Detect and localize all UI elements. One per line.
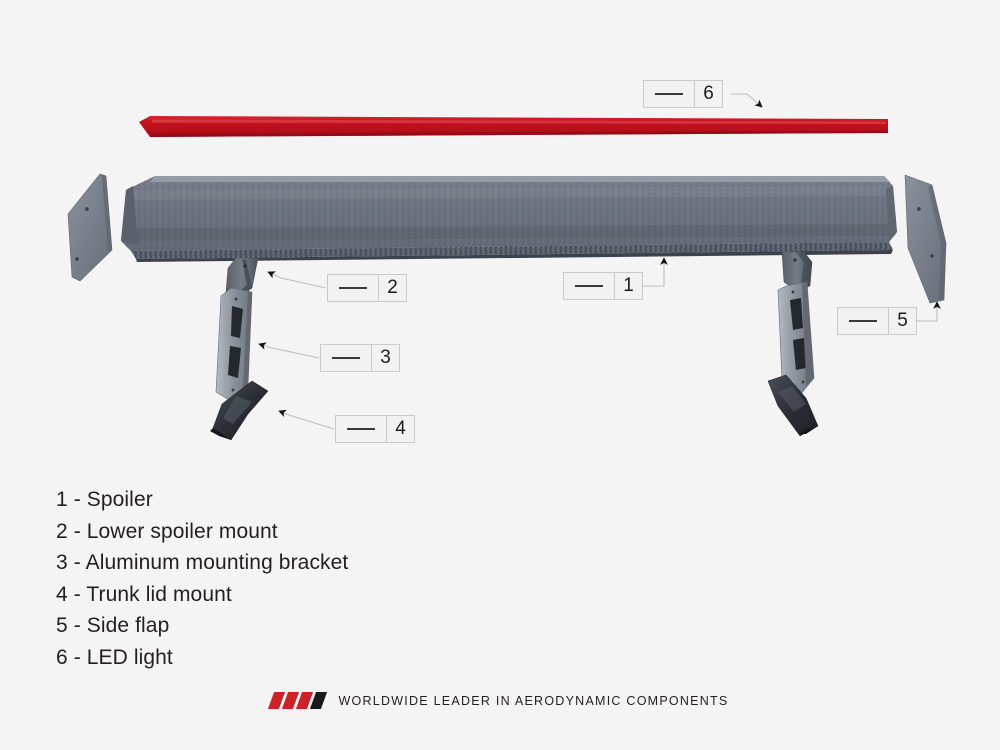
callout-dash-cell [644,81,695,107]
legend-item-3: 3 - Aluminum mounting bracket [56,547,576,579]
callout-number: 2 [379,275,406,301]
footer-tagline: WORLDWIDE LEADER IN AERODYNAMIC COMPONEN… [338,694,728,708]
callout-dash-icon [339,287,367,289]
legend-item-4: 4 - Trunk lid mount [56,579,576,611]
callout-1[interactable]: 1 [563,272,643,300]
trunk-lid-mount-right-part [768,375,818,436]
leader-lines [259,94,937,429]
callout-dash-icon [849,320,877,322]
callout-6[interactable]: 6 [643,80,723,108]
callout-dash-cell [328,275,379,301]
callout-number: 3 [372,345,399,371]
legend-item-5: 5 - Side flap [56,610,576,642]
callout-5[interactable]: 5 [837,307,917,335]
parts-legend: 1 - Spoiler 2 - Lower spoiler mount 3 - … [56,484,576,673]
side-flap-right-part [905,175,946,303]
callout-dash-icon [575,285,603,287]
callout-dash-cell [838,308,889,334]
spoiler-wing-part [121,176,897,262]
logo-slash-black [310,692,327,709]
callout-dash-cell [564,273,615,299]
legend-item-6: 6 - LED light [56,642,576,674]
callout-dash-icon [655,93,683,95]
callout-dash-cell [336,416,387,442]
callout-dash-cell [321,345,372,371]
callout-dash-icon [347,428,375,430]
callout-number: 1 [615,273,642,299]
legend-item-2: 2 - Lower spoiler mount [56,516,576,548]
callout-3[interactable]: 3 [320,344,400,372]
callout-4[interactable]: 4 [335,415,415,443]
callout-number: 6 [695,81,722,107]
brand-logo-icon [271,692,324,709]
callout-2[interactable]: 2 [327,274,407,302]
diagram-stage: 6 1 2 3 4 5 1 - Spoiler 2 - Lower spoile… [0,0,1000,750]
led-light-part [139,116,888,137]
legend-item-1: 1 - Spoiler [56,484,576,516]
callout-number: 4 [387,416,414,442]
footer-brand-bar: WORLDWIDE LEADER IN AERODYNAMIC COMPONEN… [0,692,1000,709]
callout-dash-icon [332,357,360,359]
aluminum-bracket-left-part [216,288,252,400]
side-flap-left-part [68,174,112,281]
callout-number: 5 [889,308,916,334]
